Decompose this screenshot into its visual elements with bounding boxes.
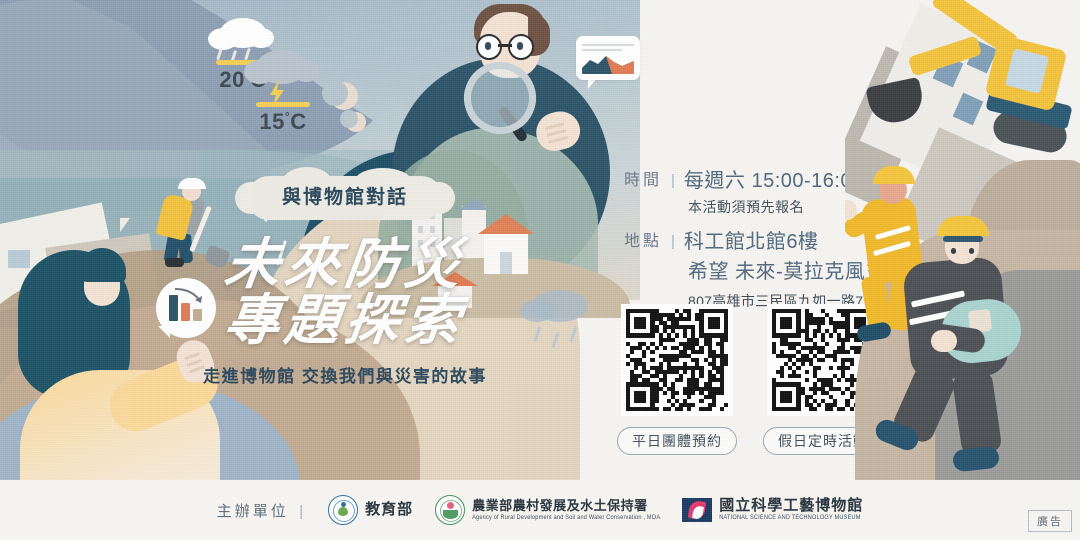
separator: | xyxy=(671,168,675,194)
separator: | xyxy=(671,229,675,255)
eye-icon xyxy=(517,42,523,50)
page-title: 未來防災 專題探索 xyxy=(180,236,510,348)
host-separator: | xyxy=(299,503,306,520)
qr-code-weekday[interactable] xyxy=(621,304,733,416)
seal-leaf xyxy=(338,507,348,516)
eyeglass-left-icon xyxy=(476,34,502,60)
speech-bubble-tail xyxy=(120,218,130,232)
speech-bubble: 與博物館對話 xyxy=(247,176,443,220)
eye-icon xyxy=(100,272,105,279)
eye-icon xyxy=(485,42,491,50)
temperature-label: 15°C xyxy=(236,109,330,135)
sponsor-footer: 主辦單位 | 教育部 農業部農村發展及水土保持署 Agency of Rural… xyxy=(0,480,1080,540)
moe-name: 教育部 xyxy=(365,502,413,519)
qr-matrix xyxy=(626,309,728,411)
cloud-shape xyxy=(520,300,554,322)
logo-ardswc: 農業部農村發展及水土保持署 Agency of Rural Developmen… xyxy=(435,495,660,525)
nstm-text-block: 國立科學工藝博物館 NATIONAL SCIENCE AND TECHNOLOG… xyxy=(719,498,863,522)
eyeglass-right-icon xyxy=(508,34,534,60)
logo-nstm: 國立科學工藝博物館 NATIONAL SCIENCE AND TECHNOLOG… xyxy=(682,498,863,522)
ardswc-name-en: Agency of Rural Development and Soil and… xyxy=(472,515,660,522)
title-line-2: 專題探索 xyxy=(177,292,514,348)
eye-icon xyxy=(969,248,974,254)
temp-value: 15 xyxy=(259,109,284,134)
finger-line xyxy=(546,129,566,136)
host-label: 主辦單位 xyxy=(217,503,289,520)
nstm-swoosh-inner xyxy=(692,505,704,520)
nstm-mark-icon xyxy=(682,498,712,522)
qr-code-group: 平日團體預約 假日定時活動 xyxy=(616,304,884,455)
rescue-scene-illustration xyxy=(845,0,1080,540)
chart-gridline xyxy=(582,44,634,46)
logo-ministry-of-education: 教育部 xyxy=(328,495,413,525)
weather-widget-15c: 15°C xyxy=(236,84,330,135)
weather-underline xyxy=(256,102,310,107)
eye-icon xyxy=(951,248,956,254)
ad-tag: 廣告 xyxy=(1028,510,1072,532)
speech-bubble-text: 與博物館對話 xyxy=(247,176,443,220)
chart-gridline xyxy=(582,49,622,51)
hard-hat-icon xyxy=(873,166,915,184)
finger-line xyxy=(548,136,568,143)
cloud-shape xyxy=(248,28,274,48)
title-line-1: 未來防災 xyxy=(177,236,514,292)
host-label-wrap: 主辦單位 | xyxy=(217,500,306,521)
subtitle: 走進博物館 交換我們與災害的故事 xyxy=(180,362,510,387)
cloud-shape xyxy=(208,28,238,50)
ardswc-seal-icon xyxy=(435,495,465,525)
qr-block-weekday[interactable]: 平日團體預約 xyxy=(616,304,738,455)
qr-label-weekday[interactable]: 平日團體預約 xyxy=(617,427,737,455)
rescuer-hand xyxy=(931,330,957,352)
chart-area-plot xyxy=(582,52,634,74)
eyeglass-bridge xyxy=(498,44,512,47)
temp-unit: C xyxy=(290,109,306,134)
nstm-name-cn: 國立科學工藝博物館 xyxy=(719,498,863,515)
moon-shadow xyxy=(340,110,358,128)
safety-goggles-icon xyxy=(943,236,983,242)
ardswc-text-block: 農業部農村發展及水土保持署 Agency of Rural Developmen… xyxy=(472,499,660,521)
area-chart-icon xyxy=(582,52,634,74)
moe-seal-icon xyxy=(328,495,358,525)
moon-shadow xyxy=(322,80,348,106)
nstm-name-en: NATIONAL SCIENCE AND TECHNOLOGY MUSEUM xyxy=(719,516,863,522)
title-block: 與博物館對話 未來防災 專題探索 走進博物館 交換我們與災害的故事 xyxy=(180,176,510,387)
time-label: 時間 xyxy=(624,168,662,194)
promo-banner: 20°C 15°C 與博物館 xyxy=(0,0,1080,540)
seal-leaves xyxy=(443,510,458,519)
finger-line xyxy=(545,122,565,129)
thunder-cloud-shape xyxy=(292,60,320,82)
window-icon xyxy=(8,250,30,268)
ardswc-name-cn: 農業部農村發展及水土保持署 xyxy=(472,499,660,513)
place-label: 地點 xyxy=(624,229,662,255)
